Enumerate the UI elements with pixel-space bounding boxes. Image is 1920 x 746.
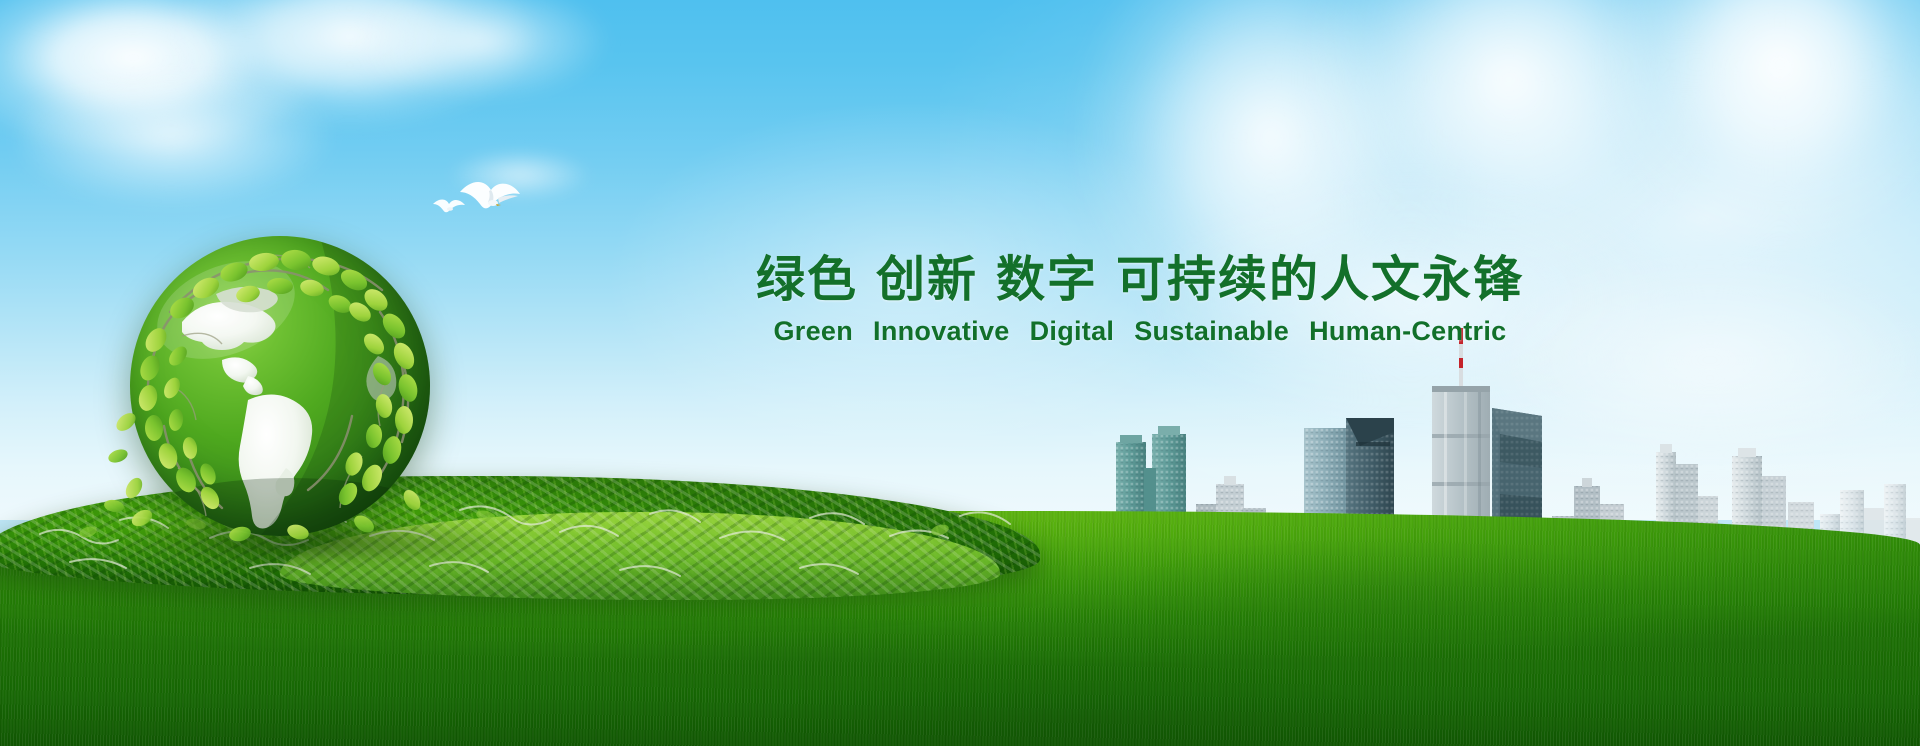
headline-cn-seg-3: 数字: [996, 251, 1098, 308]
earth-globe: [130, 236, 450, 556]
headline-en-seg-2: Innovative: [873, 316, 1010, 346]
headline-en-seg-1: Green: [774, 316, 854, 346]
globe-continents: [140, 236, 430, 536]
headline-block: 绿色创新数字可持续的人文永锋 GreenInnovativeDigitalSus…: [640, 252, 1640, 349]
headline-cn-seg-1: 绿色: [756, 251, 858, 308]
banner-stage: 绿色创新数字可持续的人文永锋 GreenInnovativeDigitalSus…: [0, 0, 1920, 746]
globe-sphere: [130, 236, 430, 536]
headline-en-seg-5: Human-Centric: [1309, 316, 1506, 346]
headline-en-seg-3: Digital: [1030, 316, 1115, 346]
seagull-icon-small: [432, 196, 466, 216]
headline-cn-seg-4: 可持续的人文永锋: [1116, 251, 1524, 308]
headline-cn-seg-2: 创新: [876, 251, 978, 308]
seagull-icon-large: [458, 176, 522, 216]
headline-english: GreenInnovativeDigitalSustainableHuman-C…: [640, 314, 1640, 350]
headline-chinese: 绿色创新数字可持续的人文永锋: [640, 252, 1640, 308]
headline-en-seg-4: Sustainable: [1134, 316, 1289, 346]
